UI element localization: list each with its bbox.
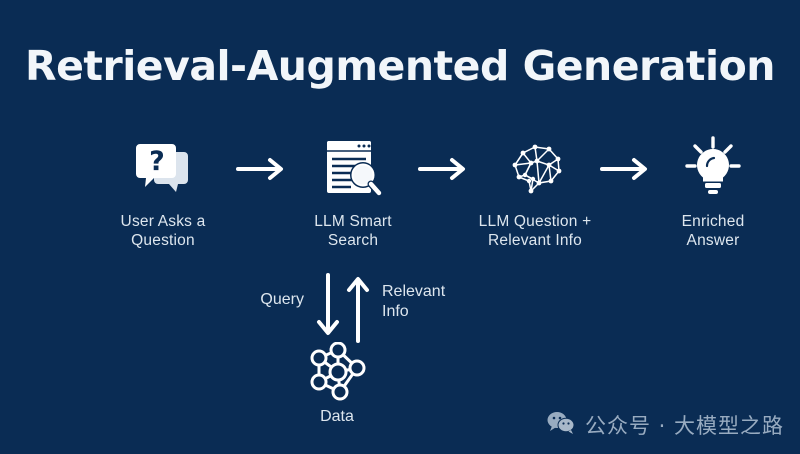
bidirectional-arrows — [308, 272, 380, 344]
pipeline-stage-enriched-answer: Enriched Answer — [638, 128, 788, 250]
retrieval-exchange: Query Relevant Info — [230, 272, 490, 348]
watermark: 公众号 · 大模型之路 — [546, 410, 784, 440]
arrow-down-icon — [319, 275, 337, 333]
pipeline-stage-label: LLM Question + Relevant Info — [460, 212, 610, 250]
data-node: Data — [272, 342, 402, 426]
pipeline-stage-label: User Asks a Question — [88, 212, 238, 250]
network-brain-icon — [460, 128, 610, 206]
pipeline-stage-label: LLM Smart Search — [278, 212, 428, 250]
lightbulb-icon — [638, 128, 788, 206]
watermark-text: 公众号 · 大模型之路 — [585, 410, 784, 440]
page-title: Retrieval-Augmented Generation — [0, 42, 800, 90]
pipeline-stage-label: Enriched Answer — [638, 212, 788, 250]
data-node-label: Data — [272, 408, 402, 426]
svg-text:?: ? — [149, 146, 165, 177]
network-graph-icon — [272, 342, 402, 404]
pipeline-stage-smart-search: LLM Smart Search — [278, 128, 428, 250]
question-speech-bubble-icon: ? — [88, 128, 238, 206]
arrow-up-icon — [349, 279, 367, 341]
document-search-icon — [278, 128, 428, 206]
query-label: Query — [234, 290, 304, 310]
pipeline-stage-user-question: ? User Asks a Question — [88, 128, 238, 250]
relevant-info-label: Relevant Info — [382, 282, 486, 322]
diagram-canvas: Retrieval-Augmented Generation ? User As… — [0, 0, 800, 454]
rag-pipeline: ? User Asks a Question — [88, 128, 738, 258]
pipeline-stage-llm-brain: LLM Question + Relevant Info — [460, 128, 610, 250]
wechat-icon — [546, 410, 576, 440]
